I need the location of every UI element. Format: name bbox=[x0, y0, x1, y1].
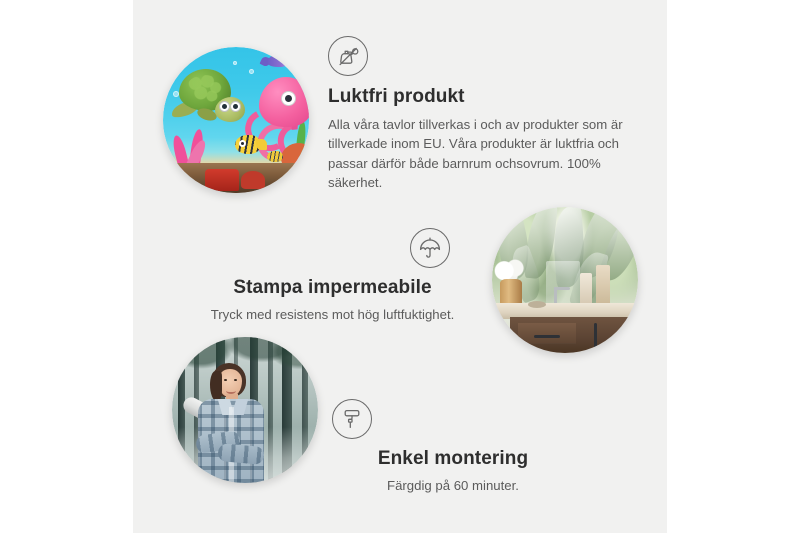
feature-icon-row bbox=[195, 228, 470, 276]
no-odor-spray-bottle-icon bbox=[328, 36, 368, 76]
forest-background bbox=[172, 337, 318, 483]
feature-body: Tryck med resistens mot hög luftfuktighe… bbox=[195, 305, 470, 325]
foreground-object bbox=[241, 171, 265, 189]
feature-body: Färgdig på 60 minuter. bbox=[328, 476, 578, 496]
bubble-icon bbox=[249, 69, 254, 74]
woman-eye bbox=[234, 379, 237, 381]
woman-with-paint-roller-thumbnail bbox=[172, 337, 318, 483]
striped-fish-eye bbox=[239, 140, 246, 147]
turtle-eye bbox=[219, 101, 230, 112]
toiletry-bottle bbox=[580, 273, 592, 305]
forest-canopy bbox=[172, 337, 318, 399]
woman-eye bbox=[224, 379, 227, 381]
cabinet-drawer bbox=[518, 323, 576, 344]
faucet-spout bbox=[554, 287, 570, 290]
feature-waterproof: Stampa impermeabile Tryck med resistens … bbox=[195, 228, 470, 324]
toiletry-bottle bbox=[596, 265, 610, 305]
sea-background bbox=[163, 47, 309, 193]
bathroom-background bbox=[492, 207, 638, 353]
promo-banner: Luktfri produkt Alla våra tavlor tillver… bbox=[0, 0, 800, 533]
soap-dish bbox=[528, 301, 546, 308]
striped-fish-tail bbox=[256, 139, 267, 150]
backsplash-panel bbox=[546, 261, 580, 305]
small-striped-fish bbox=[267, 151, 283, 162]
paint-roller-icon bbox=[332, 399, 372, 439]
purple-fish bbox=[267, 55, 289, 67]
woman-hair-strand bbox=[210, 371, 222, 401]
feature-title: Luktfri produkt bbox=[328, 85, 624, 109]
underwater-cartoon-wallpaper-thumbnail bbox=[163, 47, 309, 193]
feature-title: Enkel montering bbox=[328, 447, 578, 471]
bathroom-tropical-wallpaper-thumbnail bbox=[492, 207, 638, 353]
octopus-eye bbox=[281, 91, 296, 106]
umbrella-icon bbox=[410, 228, 450, 268]
foreground-object bbox=[205, 169, 239, 191]
turtle-eye bbox=[230, 101, 241, 112]
feature-title: Stampa impermeabile bbox=[195, 276, 470, 300]
cabinet-handle bbox=[594, 323, 597, 349]
feature-icon-row bbox=[328, 399, 578, 447]
bubble-icon bbox=[233, 61, 237, 65]
feature-easy-mounting: Enkel montering Färgdig på 60 minuter. bbox=[328, 399, 578, 495]
feature-body: Alla våra tavlor tillverkas i och av pro… bbox=[328, 115, 624, 193]
cabinet-handle bbox=[534, 335, 560, 338]
feature-odorless: Luktfri produkt Alla våra tavlor tillver… bbox=[328, 36, 624, 193]
